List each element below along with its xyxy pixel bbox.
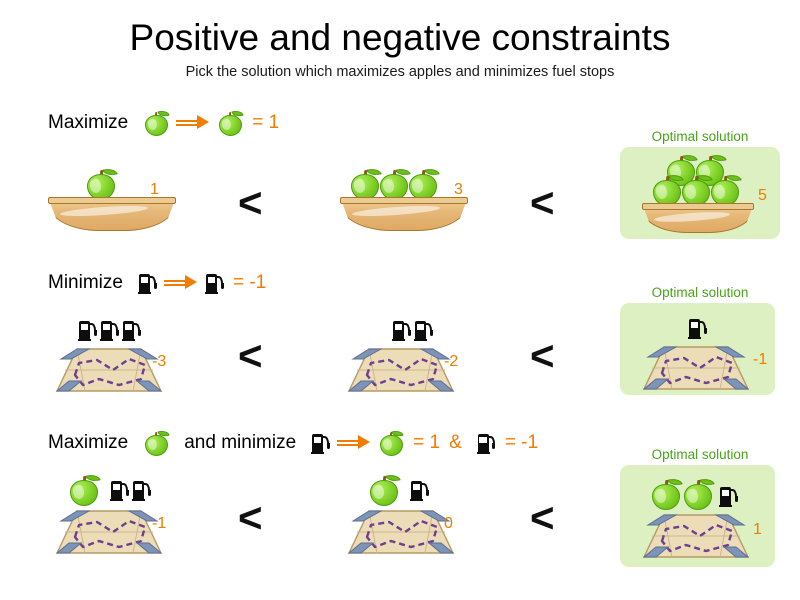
route-map-icon	[55, 345, 163, 397]
apple-icon	[143, 429, 169, 457]
optimal-solution-label: Optimal solution	[620, 285, 780, 300]
fuel-pump-icon	[110, 479, 129, 501]
row-2-lead-label: Minimize	[48, 272, 123, 294]
route-map-icon	[642, 511, 750, 563]
less-than-icon: <	[238, 182, 263, 224]
fruit-bowl-icon	[48, 197, 176, 231]
row-1-equals-label: = 1	[252, 112, 279, 134]
less-than-icon: <	[530, 335, 555, 377]
value-label: 0	[444, 515, 453, 533]
row-1-lead-label: Maximize	[48, 112, 128, 134]
implies-arrow-icon	[164, 274, 198, 292]
row-3-equals-pump-label: = -1	[505, 432, 538, 454]
fuel-pump-icon	[78, 319, 97, 341]
apple-icon	[378, 429, 404, 457]
slide-root: { "header": { "title": "Positive and neg…	[0, 0, 800, 600]
value-label: -1	[753, 351, 767, 369]
page-subtitle: Pick the solution which maximizes apples…	[0, 64, 800, 80]
apple-icon	[407, 167, 439, 201]
fuel-pump-icon	[719, 485, 738, 507]
apple-icon	[709, 173, 741, 207]
value-label: -1	[152, 515, 166, 533]
apple-icon	[378, 167, 410, 201]
optimal-solution-panel[interactable]: 5	[620, 147, 780, 239]
fuel-pump-icon	[138, 272, 157, 294]
row-1-header: Maximize = 1	[48, 105, 279, 141]
value-label: 1	[753, 521, 762, 539]
optimal-solution-label: Optimal solution	[620, 129, 780, 144]
apple-icon	[68, 473, 100, 507]
optimal-solution-label: Optimal solution	[620, 447, 780, 462]
row-2-header: Minimize = -1	[48, 265, 266, 301]
fuel-pump-icon	[414, 319, 433, 341]
value-label: 5	[758, 187, 767, 205]
apple-icon	[650, 477, 682, 511]
fuel-pump-icon	[392, 319, 411, 341]
row-3-ampersand-label: &	[449, 432, 462, 454]
route-map-icon	[347, 507, 455, 559]
apple-icon	[682, 477, 714, 511]
value-label: -3	[152, 353, 166, 371]
route-map-icon	[347, 345, 455, 397]
row-3-mid-label: and minimize	[184, 432, 296, 454]
fruit-bowl-icon	[340, 197, 468, 231]
apple-icon	[680, 173, 712, 207]
page-title: Positive and negative constraints	[0, 16, 800, 60]
implies-arrow-icon	[337, 434, 371, 452]
value-label: 3	[454, 181, 463, 199]
row-2-equals-label: = -1	[233, 272, 266, 294]
apple-icon	[651, 173, 683, 207]
route-map-icon	[55, 507, 163, 559]
optimal-solution-panel[interactable]: -1	[620, 303, 775, 395]
less-than-icon: <	[238, 335, 263, 377]
apple-icon	[217, 109, 243, 137]
value-label: 1	[150, 181, 159, 199]
fuel-pump-icon	[688, 317, 707, 339]
less-than-icon: <	[238, 497, 263, 539]
optimal-solution-panel[interactable]: 1	[620, 465, 775, 567]
fuel-pump-icon	[122, 319, 141, 341]
value-label: -2	[444, 353, 458, 371]
apple-icon	[368, 473, 400, 507]
fuel-pump-icon	[132, 479, 151, 501]
apple-icon	[85, 167, 117, 201]
row-3-lead-label: Maximize	[48, 432, 128, 454]
less-than-icon: <	[530, 182, 555, 224]
fuel-pump-icon	[311, 432, 330, 454]
apple-icon	[143, 109, 169, 137]
row-3-equals-apple-label: = 1	[413, 432, 440, 454]
fuel-pump-icon	[100, 319, 119, 341]
route-map-icon	[642, 343, 750, 395]
fuel-pump-icon	[205, 272, 224, 294]
fruit-bowl-icon	[642, 203, 754, 233]
implies-arrow-icon	[176, 114, 210, 132]
row-3-header: Maximize and minimize = 1 & = -1	[48, 425, 538, 461]
fuel-pump-icon	[410, 479, 429, 501]
apple-icon	[349, 167, 381, 201]
fuel-pump-icon	[477, 432, 496, 454]
less-than-icon: <	[530, 497, 555, 539]
